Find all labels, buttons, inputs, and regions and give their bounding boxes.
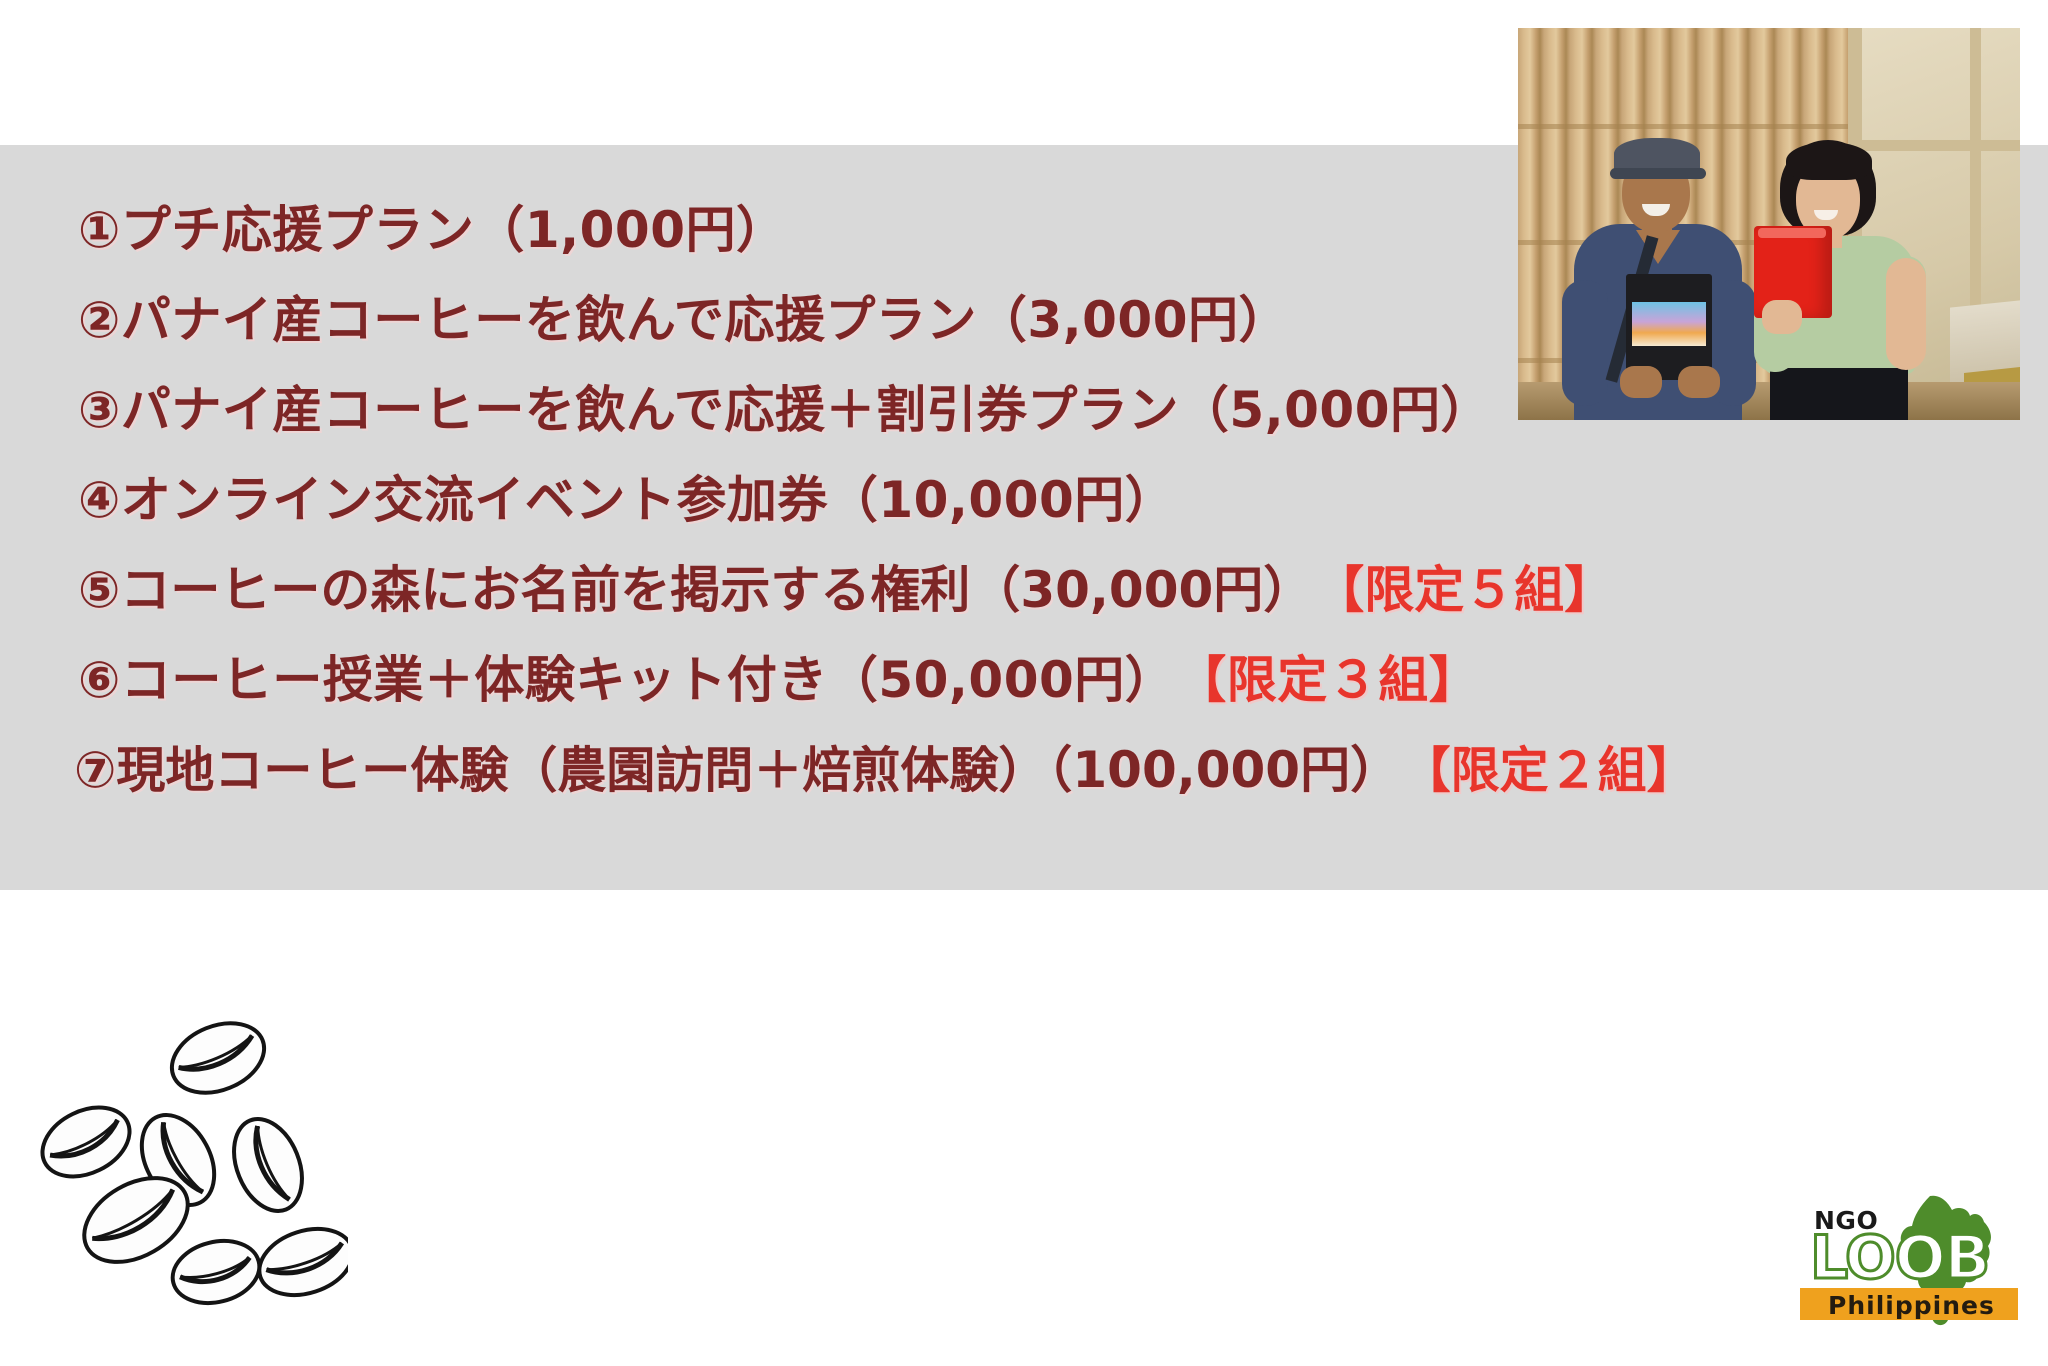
plan-number: ③ [78,381,121,439]
plan-title: オンライン交流イベント参加券 [121,471,828,529]
plan-number: ⑥ [78,651,121,709]
plan-title: コーヒーの森にお名前を掲示する権利 [120,561,970,619]
list-item: ④オンライン交流イベント参加券（10,000円） [78,475,1201,525]
plan-title: 現地コーヒー体験（農園訪問＋焙煎体験） [116,742,1047,799]
ngo-loob-logo: NGO LOOB Philippines [1800,1192,2028,1332]
plan-limit-badge: 【限定３組】 [1201,651,1479,709]
plan-number: ① [78,201,121,259]
coffee-beans-icon [18,1000,348,1330]
plan-limit-badge: 【限定５組】 [1339,561,1614,619]
hero-photo [1518,28,2020,420]
plan-price: （30,000円） [970,561,1313,619]
list-item: ③パナイ産コーヒーを飲んで応援＋割引券プラン（5,000円） [78,385,1517,435]
plan-title: パナイ産コーヒーを飲んで応援プラン [121,291,977,349]
plan-title: パナイ産コーヒーを飲んで応援＋割引券プラン [121,381,1179,439]
list-item: ⑦現地コーヒー体験（農園訪問＋焙煎体験）（100,000円）【限定２組】 [74,745,1696,795]
man-hand-right [1678,366,1720,398]
plan-price: （10,000円） [828,471,1175,529]
plan-price: （5,000円） [1179,381,1491,439]
plan-price: （3,000円） [977,291,1289,349]
woman-hand [1762,300,1802,334]
man-arm-left [1562,280,1608,406]
logo-name-text: LOOB [1810,1228,1989,1288]
plan-number: ⑦ [74,741,116,799]
red-coffee-bag-seal [1758,228,1826,238]
woman-arm-right [1886,258,1926,370]
list-item: ⑥コーヒー授業＋体験キット付き（50,000円）【限定３組】 [78,655,1479,705]
list-item: ①プチ応援プラン（1,000円） [78,205,813,255]
plan-title: コーヒー授業＋体験キット付き [121,651,828,709]
list-item: ②パナイ産コーヒーを飲んで応援プラン（3,000円） [78,295,1315,345]
plan-limit-badge: 【限定２組】 [1426,742,1696,799]
plan-price: （100,000円） [1047,741,1400,799]
logo-country-text: Philippines [1828,1291,1995,1320]
list-item: ⑤コーヒーの森にお名前を掲示する権利（30,000円）【限定５組】 [78,565,1614,615]
woman-pants [1770,368,1908,420]
man-cap-brim [1610,168,1706,179]
plan-number: ④ [78,471,121,529]
plan-number: ② [78,291,121,349]
plan-title: プチ応援プラン [121,201,475,259]
woman-fringe [1786,142,1872,180]
wall-beam [1848,140,2020,151]
plan-list: ①プチ応援プラン（1,000円） ②パナイ産コーヒーを飲んで応援プラン（3,00… [0,145,1540,890]
plan-number: ⑤ [78,561,120,619]
man-hand-left [1620,366,1662,398]
plan-price: （1,000円） [474,201,786,259]
plan-price: （50,000円） [828,651,1175,709]
coffee-bag-label [1632,302,1706,346]
